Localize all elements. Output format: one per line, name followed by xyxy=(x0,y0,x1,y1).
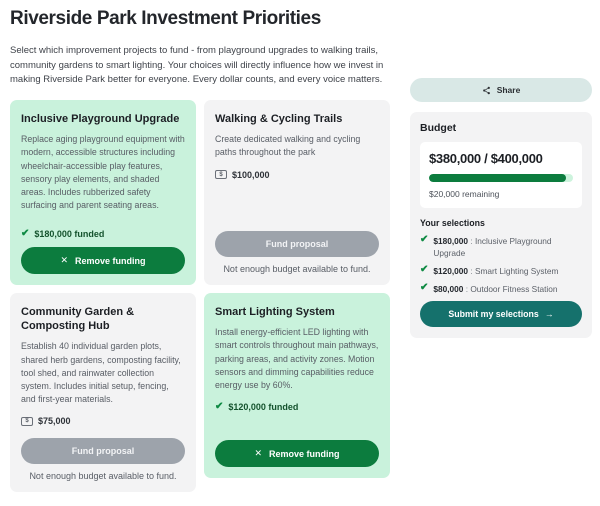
budget-remaining-label: $20,000 remaining xyxy=(429,189,573,199)
budget-progress-bar xyxy=(429,174,573,182)
close-icon: ✕ xyxy=(60,255,68,266)
remove-funding-button[interactable]: ✕ Remove funding xyxy=(21,247,185,274)
proposal-title: Community Garden & Composting Hub xyxy=(21,305,185,333)
budget-progress-fill xyxy=(429,174,566,182)
proposal-card-inclusive-playground-upgrade[interactable]: Inclusive Playground Upgrade Replace agi… xyxy=(10,100,196,285)
remove-funding-label: Remove funding xyxy=(269,449,340,459)
check-icon: ✔ xyxy=(215,402,223,412)
intro-paragraph: Select which improvement projects to fun… xyxy=(10,44,388,88)
submit-label: Submit my selections xyxy=(448,309,538,319)
proposal-description: Install energy-efficient LED lighting wi… xyxy=(215,326,379,392)
fund-proposal-button[interactable]: Fund proposal xyxy=(215,231,379,257)
submit-selections-button[interactable]: Submit my selections → xyxy=(420,301,582,327)
page-root: Riverside Park Investment Priorities Sel… xyxy=(0,0,600,492)
selection-separator: : xyxy=(466,284,468,294)
card-spacer xyxy=(215,420,379,440)
selection-name: Smart Lighting System xyxy=(475,266,558,276)
proposal-title: Inclusive Playground Upgrade xyxy=(21,112,185,126)
proposal-card-smart-lighting-system[interactable]: Smart Lighting System Install energy-eff… xyxy=(204,293,390,478)
proposal-cost: $ $75,000 xyxy=(21,416,185,426)
share-icon xyxy=(482,86,491,95)
proposal-card-grid: Inclusive Playground Upgrade Replace agi… xyxy=(10,100,398,492)
check-icon: ✔ xyxy=(420,283,428,293)
selection-separator: : xyxy=(470,266,472,276)
selection-amount: $120,000 xyxy=(433,266,468,276)
funded-status: ✔ $120,000 funded xyxy=(215,402,379,412)
card-spacer xyxy=(215,188,379,232)
funded-amount-label: $120,000 funded xyxy=(228,402,298,412)
selection-text: $80,000 : Outdoor Fitness Station xyxy=(433,283,557,295)
selection-text: $180,000 : Inclusive Playground Upgrade xyxy=(433,235,582,259)
budget-panel: Budget $380,000 / $400,000 $20,000 remai… xyxy=(410,112,592,338)
share-button[interactable]: Share xyxy=(410,78,592,102)
selection-amount: $80,000 xyxy=(433,284,463,294)
proposal-description: Create dedicated walking and cycling pat… xyxy=(215,133,379,159)
fund-proposal-label: Fund proposal xyxy=(266,239,329,249)
arrow-right-icon: → xyxy=(545,309,554,319)
fund-proposal-label: Fund proposal xyxy=(72,446,135,456)
budget-amount: $380,000 / $400,000 xyxy=(429,151,573,166)
selection-text: $120,000 : Smart Lighting System xyxy=(433,265,558,277)
proposal-cost-amount: $75,000 xyxy=(38,416,71,426)
proposal-card-walking-cycling-trails[interactable]: Walking & Cycling Trails Create dedicate… xyxy=(204,100,390,285)
check-icon: ✔ xyxy=(21,229,29,239)
sidebar: Share Budget $380,000 / $400,000 $20,000… xyxy=(410,44,592,338)
proposal-title: Walking & Cycling Trails xyxy=(215,112,379,126)
banknote-icon: $ xyxy=(21,417,33,426)
budget-heading: Budget xyxy=(420,122,582,134)
remove-funding-button[interactable]: ✕ Remove funding xyxy=(215,440,379,467)
remove-funding-label: Remove funding xyxy=(75,256,146,266)
proposal-description: Replace aging playground equipment with … xyxy=(21,133,185,212)
funded-amount-label: $180,000 funded xyxy=(34,229,104,239)
proposal-cost: $ $100,000 xyxy=(215,170,379,180)
selection-amount: $180,000 xyxy=(433,236,468,246)
check-icon: ✔ xyxy=(420,265,428,275)
budget-summary-box: $380,000 / $400,000 $20,000 remaining xyxy=(420,142,582,208)
card-spacer xyxy=(21,222,185,229)
selection-item: ✔ $80,000 : Outdoor Fitness Station xyxy=(420,283,582,295)
close-icon: ✕ xyxy=(254,448,262,459)
proposal-description: Establish 40 individual garden plots, sh… xyxy=(21,340,185,406)
selection-item: ✔ $120,000 : Smart Lighting System xyxy=(420,265,582,277)
selection-item: ✔ $180,000 : Inclusive Playground Upgrad… xyxy=(420,235,582,259)
selection-separator: : xyxy=(470,236,472,246)
funded-status: ✔ $180,000 funded xyxy=(21,229,185,239)
proposal-card-community-garden-composting-hub[interactable]: Community Garden & Composting Hub Establ… xyxy=(10,293,196,492)
proposal-cost-amount: $100,000 xyxy=(232,170,270,180)
share-label: Share xyxy=(497,85,521,95)
fund-proposal-button[interactable]: Fund proposal xyxy=(21,438,185,464)
selections-heading: Your selections xyxy=(420,218,582,228)
proposals-column: Select which improvement projects to fun… xyxy=(10,44,398,492)
check-icon: ✔ xyxy=(420,235,428,245)
budget-warning: Not enough budget available to fund. xyxy=(215,264,379,274)
page-title: Riverside Park Investment Priorities xyxy=(10,8,590,30)
main-layout: Select which improvement projects to fun… xyxy=(10,44,590,492)
banknote-icon: $ xyxy=(215,170,227,179)
selection-name: Outdoor Fitness Station xyxy=(470,284,557,294)
budget-warning: Not enough budget available to fund. xyxy=(21,471,185,481)
proposal-title: Smart Lighting System xyxy=(215,305,379,319)
